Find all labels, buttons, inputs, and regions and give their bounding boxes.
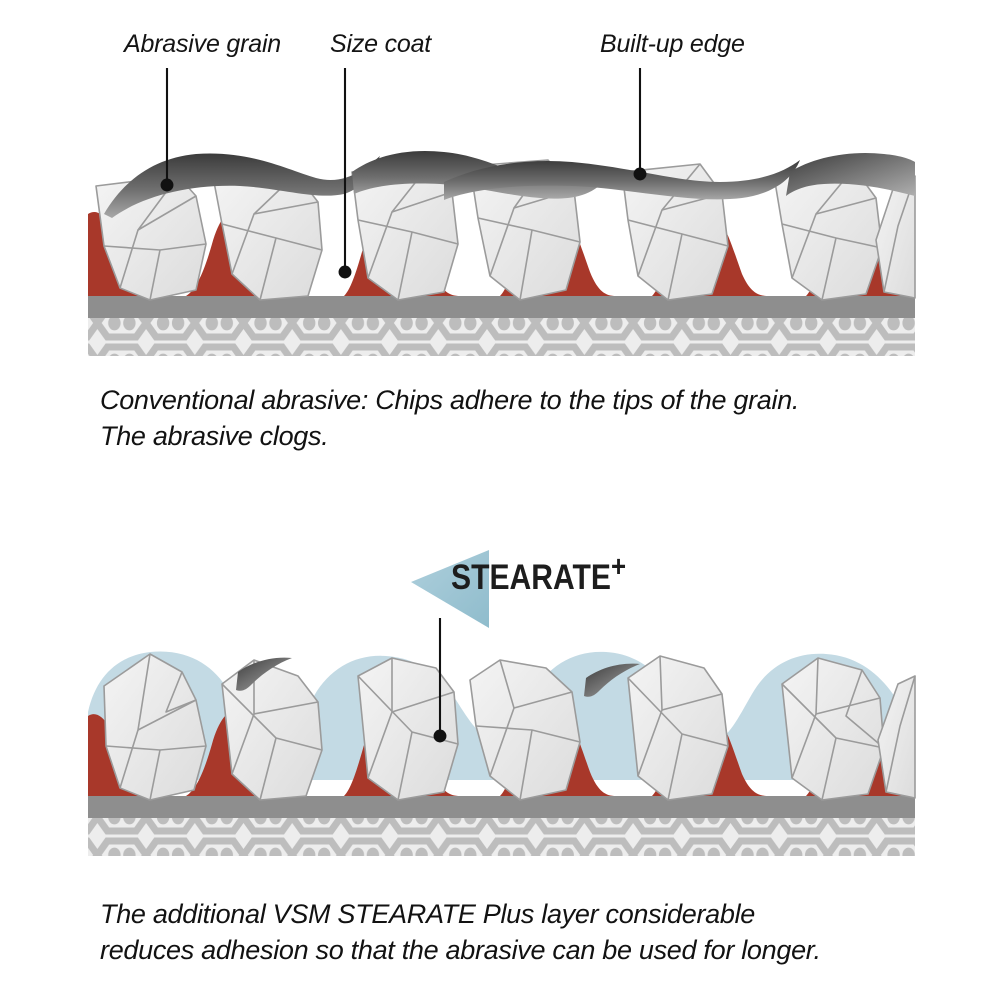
label-built-up-edge: Built-up edge [600,30,745,59]
label-abrasive-grain: Abrasive grain [124,30,281,59]
stearate-plus-superscript: + [611,550,626,583]
bottom-backing-gray [88,796,915,818]
bottom-backing-cloth [88,818,915,856]
conventional-abrasive-panel [0,0,1000,1000]
diagram-stage: Abrasive grain Size coat Built-up edge S… [0,0,1000,1000]
top-backing-gray [88,296,915,318]
label-size-coat: Size coat [330,30,431,59]
stearate-wordmark-text: STEARATE [451,558,611,597]
stearate-wordmark: STEARATE+ [451,558,626,598]
top-backing-cloth [88,318,915,356]
caption-stearate-plus: The additional VSM STEARATE Plus layer c… [100,896,821,968]
caption-conventional-abrasive: Conventional abrasive: Chips adhere to t… [100,382,799,454]
